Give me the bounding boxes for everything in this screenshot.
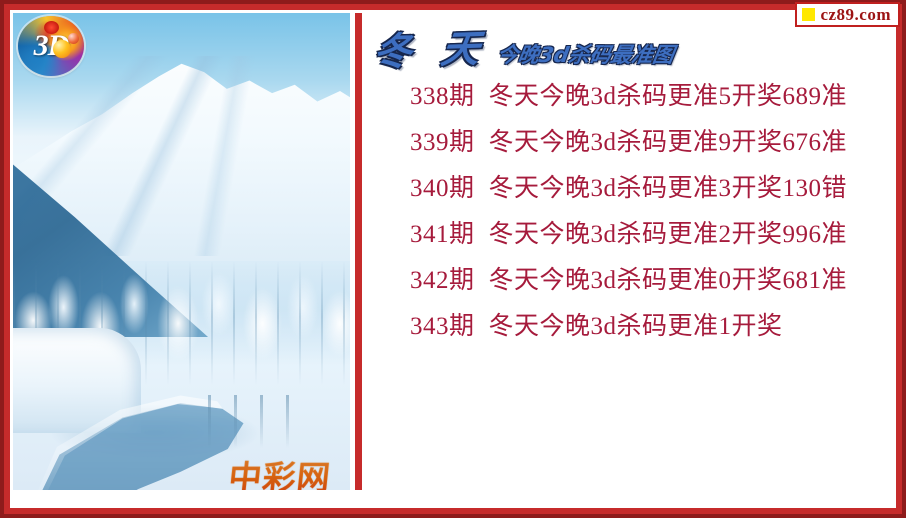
title-sub-text: 今晚3d杀码最准图 bbox=[496, 45, 676, 66]
lottery-poster: 3D 中彩网 www.cz89.com 冬 天 今晚3d杀码最准图 338期 冬… bbox=[0, 0, 906, 518]
forecast-text-panel: 冬 天 今晚3d杀码最准图 338期 冬天今晚3d杀码更准5开奖689准 339… bbox=[362, 13, 893, 490]
record-list: 338期 冬天今晚3d杀码更准5开奖689准 339期 冬天今晚3d杀码更准9开… bbox=[362, 71, 893, 347]
record-detail: 冬天今晚3d杀码更准5开奖689准 bbox=[489, 76, 848, 112]
record-detail: 冬天今晚3d杀码更准0开奖681准 bbox=[489, 260, 848, 296]
yellow-square-icon bbox=[802, 8, 815, 21]
panel-divider bbox=[355, 13, 362, 490]
logo-ball-small-icon bbox=[68, 33, 79, 44]
site-watermark: 中彩网 www.cz89.com bbox=[195, 453, 350, 490]
lottery-3d-logo: 3D bbox=[18, 16, 84, 76]
winter-photo-panel: 3D 中彩网 www.cz89.com bbox=[13, 13, 350, 490]
table-row: 340期 冬天今晚3d杀码更准3开奖130错 bbox=[362, 163, 893, 209]
site-badge[interactable]: cz89.com bbox=[795, 2, 900, 27]
record-detail: 冬天今晚3d杀码更准9开奖676准 bbox=[489, 122, 848, 158]
record-detail: 冬天今晚3d杀码更准1开奖 bbox=[489, 306, 783, 342]
table-row: 342期 冬天今晚3d杀码更准0开奖681准 bbox=[362, 255, 893, 301]
record-issue: 342期 bbox=[410, 260, 475, 296]
page-title: 冬 天 今晚3d杀码最准图 bbox=[374, 17, 674, 69]
record-issue: 338期 bbox=[410, 76, 475, 112]
site-badge-text: cz89.com bbox=[820, 6, 891, 23]
table-row: 338期 冬天今晚3d杀码更准5开奖689准 bbox=[362, 71, 893, 117]
watermark-brand-text: 中彩网 bbox=[193, 453, 350, 490]
table-row: 343期 冬天今晚3d杀码更准1开奖 bbox=[362, 301, 893, 347]
record-issue: 343期 bbox=[410, 306, 475, 342]
logo-ball-large-icon bbox=[53, 40, 71, 58]
table-row: 339期 冬天今晚3d杀码更准9开奖676准 bbox=[362, 117, 893, 163]
record-detail: 冬天今晚3d杀码更准3开奖130错 bbox=[489, 168, 848, 204]
record-issue: 341期 bbox=[410, 214, 475, 250]
poster-content: 3D 中彩网 www.cz89.com 冬 天 今晚3d杀码最准图 338期 冬… bbox=[13, 13, 893, 505]
winter-scenery-image bbox=[13, 13, 350, 490]
table-row: 341期 冬天今晚3d杀码更准2开奖996准 bbox=[362, 209, 893, 255]
record-issue: 340期 bbox=[410, 168, 475, 204]
title-main-text: 冬 天 bbox=[371, 29, 500, 71]
record-issue: 339期 bbox=[410, 122, 475, 158]
record-detail: 冬天今晚3d杀码更准2开奖996准 bbox=[489, 214, 848, 250]
logo-3d-text: 3D bbox=[18, 16, 84, 76]
roadside-posts bbox=[208, 395, 309, 452]
